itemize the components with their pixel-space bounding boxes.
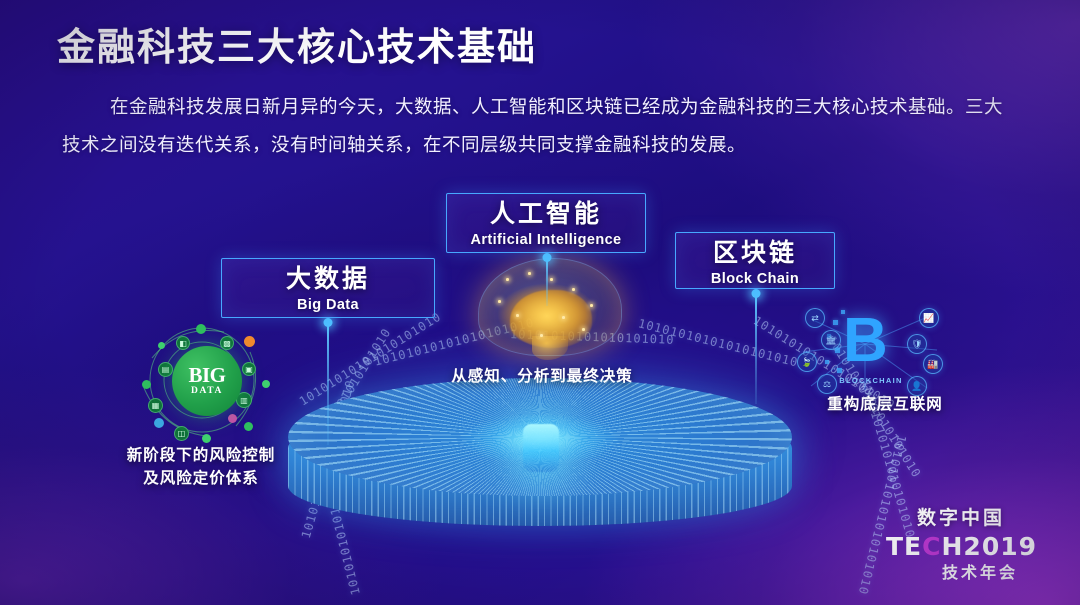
brain-spark (528, 272, 531, 275)
card-ai-title-cn: 人工智能 (447, 201, 645, 229)
bd-node (244, 336, 255, 347)
bd-node (228, 414, 237, 423)
caption-big-data: 新阶段下的风险控制 及风险定价体系 (95, 444, 307, 490)
event-logo: 数字中国 TECH2019 技术年会 (886, 503, 1036, 583)
caption-big-data-line1: 新阶段下的风险控制 (95, 444, 307, 467)
brain-spark (562, 316, 565, 319)
bd-icon-chip: ◧ (176, 336, 190, 350)
card-big-data-title-en: Big Data (222, 297, 434, 313)
bc-pixel (837, 368, 842, 373)
big-data-badge-line1: BIG (188, 366, 225, 386)
logo-tech-pre: TE (886, 532, 922, 561)
brain-spark (550, 278, 553, 281)
bd-node (142, 380, 151, 389)
bd-node (202, 434, 211, 443)
logo-line-annual-conference: 技术年会 (886, 559, 1036, 583)
slide-canvas: 金融科技三大核心技术基础 在金融科技发展日新月异的今天，大数据、人工智能和区块链… (0, 0, 1080, 605)
bd-icon-chip: ▦ (148, 398, 163, 413)
connector-stem-ai (546, 258, 548, 306)
logo-tech-c: C (922, 532, 941, 561)
caption-ai: 从感知、分析到最终决策 (426, 365, 658, 388)
card-ai-title-en: Artificial Intelligence (447, 232, 645, 248)
logo-tech-post: H2019 (942, 532, 1038, 561)
brain-spark (590, 304, 593, 307)
ai-brain-graphic (470, 248, 630, 366)
bc-icon-balance: ⚖ (817, 374, 837, 394)
card-big-data[interactable]: 大数据 Big Data (221, 258, 435, 318)
binary-ring-text: 10101010101010101010 (637, 316, 800, 369)
blockchain-label: BLOCKCHAIN (831, 376, 911, 385)
card-block-chain-title-en: Block Chain (676, 271, 834, 287)
card-big-data-title-cn: 大数据 (222, 266, 434, 294)
blockchain-icon-cluster: B BLOCKCHAIN 📈 ⇄ 🏛 🛡 🍃 🏭 ⚖ 👤 (795, 302, 945, 402)
intro-paragraph: 在金融科技发展日新月异的今天，大数据、人工智能和区块链已经成为金融科技的三大核心… (62, 88, 1020, 164)
bd-node (196, 324, 206, 334)
bc-icon-exchange: ⇄ (805, 308, 825, 328)
brain-spark (516, 314, 519, 317)
page-title: 金融科技三大核心技术基础 (57, 16, 537, 71)
card-block-chain-title-cn: 区块链 (676, 240, 834, 268)
bd-icon-chip: ▩ (220, 336, 234, 350)
bd-icon-chip: ▣ (242, 362, 256, 376)
brain-spark (498, 300, 501, 303)
brain-spark (572, 288, 575, 291)
bd-node (262, 380, 270, 388)
disc-glow-core (523, 424, 559, 472)
big-data-badge-line2: DATA (191, 386, 223, 396)
connector-stem-blockchain (755, 294, 757, 404)
bd-icon-chip: ◫ (174, 426, 189, 441)
bc-pixel (833, 320, 838, 325)
caption-big-data-line2: 及风险定价体系 (95, 467, 307, 490)
logo-line-digital-china: 数字中国 (886, 503, 1036, 530)
big-data-icon-cluster: ▤ ▦ ◫ ▥ ▣ ▩ ◧ BIG DATA (132, 318, 272, 444)
caption-blockchain: 重构底层互联网 (800, 393, 970, 416)
bd-node (154, 418, 164, 428)
big-data-badge: BIG DATA (172, 346, 242, 416)
brain-stem (532, 336, 568, 360)
bc-icon-growth: 📈 (919, 308, 939, 328)
bc-icon-shield: 🛡 (907, 334, 927, 354)
blockchain-b-letter: B (843, 310, 897, 376)
bc-pixel (825, 360, 829, 364)
bc-icon-factory: 🏭 (923, 354, 943, 374)
brain-spark (540, 334, 543, 337)
central-platform-disc (280, 372, 800, 557)
card-artificial-intelligence[interactable]: 人工智能 Artificial Intelligence (446, 193, 646, 253)
bd-node (158, 342, 165, 349)
card-block-chain[interactable]: 区块链 Block Chain (675, 232, 835, 289)
connector-stem-bigdata (327, 323, 329, 445)
brain-spark (582, 328, 585, 331)
bc-icon-bank: 🏛 (821, 330, 841, 350)
brain-spark (506, 278, 509, 281)
bc-icon-leaf: 🍃 (797, 352, 817, 372)
bd-node (244, 422, 253, 431)
bd-icon-chip: ▤ (158, 362, 173, 377)
logo-line-tech2019: TECH2019 (886, 532, 1036, 561)
